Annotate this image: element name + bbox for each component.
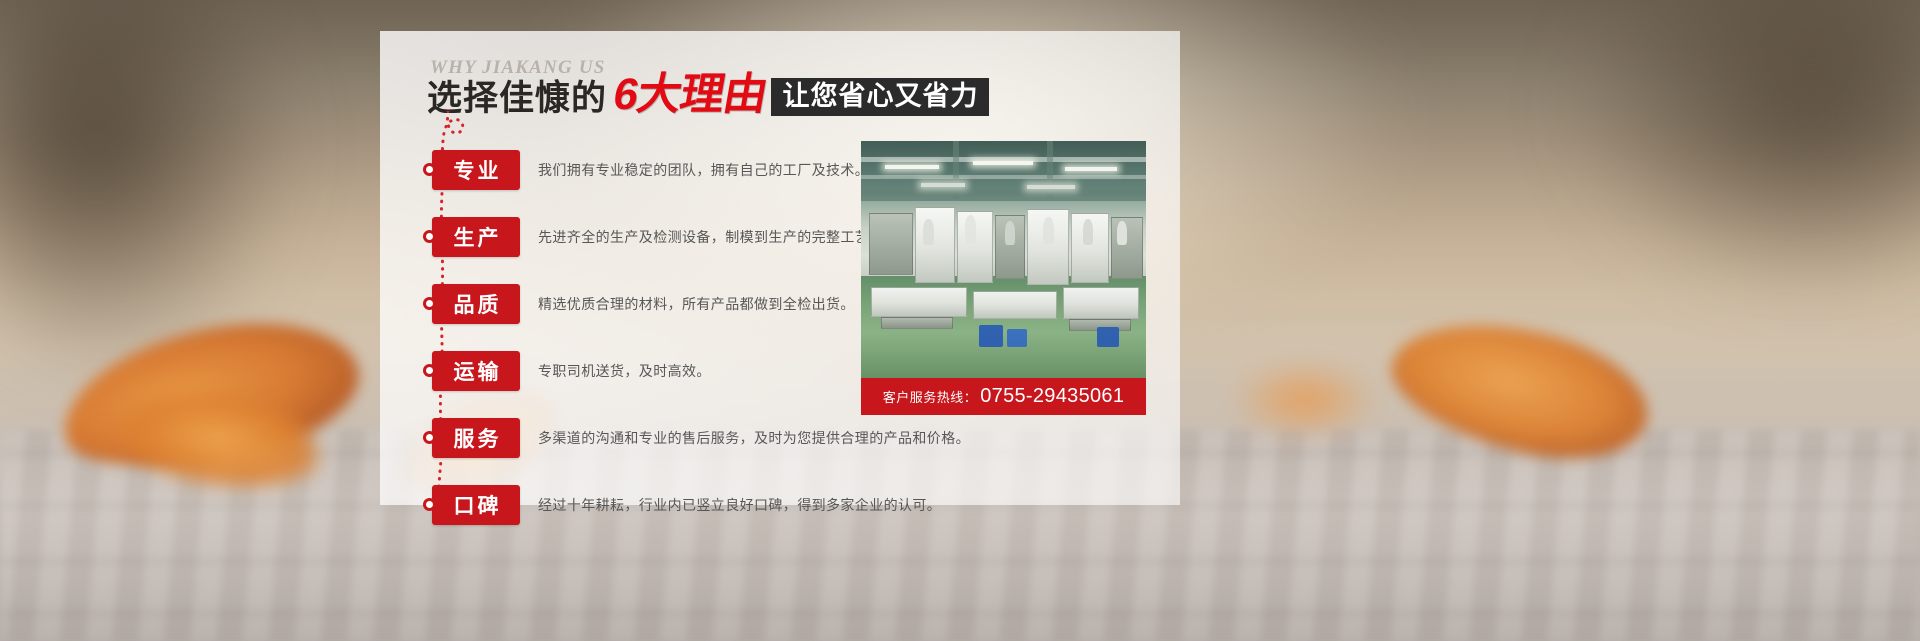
heading-main-row: 选择佳慷的 6大理由 让您省心又省力	[427, 74, 989, 116]
banner-stage: WHY JIAKANG US 选择佳慷的 6大理由 让您省心又省力 专业 我们拥…	[0, 0, 1920, 641]
connector-node-icon	[423, 230, 436, 243]
reason-description: 多渠道的沟通和专业的售后服务，及时为您提供合理的产品和价格。	[538, 428, 970, 448]
reason-description: 我们拥有专业稳定的团队，拥有自己的工厂及技术。	[538, 160, 869, 180]
reason-description: 精选优质合理的材料，所有产品都做到全检出货。	[538, 294, 855, 314]
reason-tag: 专业	[432, 150, 520, 190]
reason-description: 专职司机送货，及时高效。	[538, 361, 711, 381]
heading-lead-text: 选择佳慷的	[427, 81, 607, 116]
hotline-bar[interactable]: 客户服务热线： 0755-29435061	[861, 378, 1146, 415]
connector-node-icon	[423, 364, 436, 377]
hotline-number: 0755-29435061	[980, 385, 1124, 408]
reason-description: 经过十年耕耘，行业内已竖立良好口碑，得到多家企业的认可。	[538, 495, 941, 515]
reason-tag: 品质	[432, 284, 520, 324]
background-leaf-right-2	[1230, 360, 1380, 440]
reason-tag: 服务	[432, 418, 520, 458]
heading-highlight-text: 6大理由	[610, 74, 770, 116]
connector-node-icon	[423, 431, 436, 444]
factory-photo	[861, 141, 1146, 378]
factory-photo-image	[861, 141, 1146, 378]
connector-node-icon	[423, 163, 436, 176]
reason-tag: 运输	[432, 351, 520, 391]
reason-description: 先进齐全的生产及检测设备，制模到生产的完整工艺。	[538, 227, 884, 247]
connector-node-icon	[423, 498, 436, 511]
connector-node-icon	[423, 297, 436, 310]
heading-tail-badge: 让您省心又省力	[771, 78, 989, 116]
reason-tag: 生产	[432, 217, 520, 257]
hotline-label: 客户服务热线：	[883, 387, 978, 406]
reason-item[interactable]: 服务 多渠道的沟通和专业的售后服务，及时为您提供合理的产品和价格。	[432, 417, 1132, 458]
heading-block: WHY JIAKANG US 选择佳慷的 6大理由 让您省心又省力	[427, 59, 1147, 121]
reason-tag: 口碑	[432, 485, 520, 525]
content-panel: WHY JIAKANG US 选择佳慷的 6大理由 让您省心又省力 专业 我们拥…	[380, 31, 1180, 505]
reason-item[interactable]: 口碑 经过十年耕耘，行业内已竖立良好口碑，得到多家企业的认可。	[432, 484, 1132, 525]
